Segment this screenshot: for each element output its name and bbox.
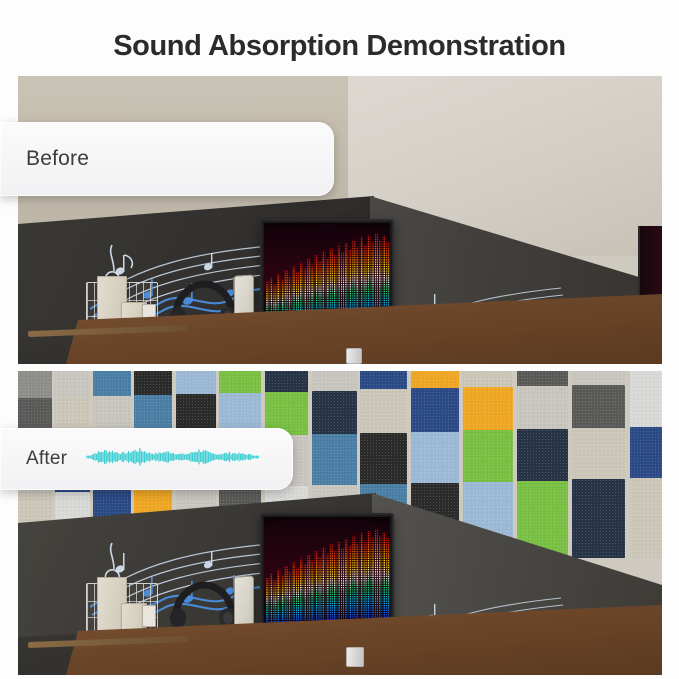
after-label-text: After — [26, 448, 67, 470]
scene-divider — [18, 364, 662, 371]
quiet-waveform — [85, 442, 263, 477]
rainbow-equalizer-after — [264, 517, 390, 631]
loud-waveform — [107, 128, 319, 191]
notebook-small-after — [142, 605, 156, 627]
page-root: Sound Absorption Demonstration — [0, 0, 679, 679]
pc-tower-after — [346, 647, 364, 667]
acoustic-tile — [55, 371, 91, 399]
monitor-screen-after — [264, 517, 390, 631]
curved-monitor-after — [260, 513, 394, 635]
acoustic-tile — [630, 478, 662, 558]
page-title: Sound Absorption Demonstration — [0, 30, 679, 63]
before-scene — [18, 76, 662, 364]
before-label-text: Before — [26, 147, 89, 171]
after-label-card[interactable]: After — [0, 428, 293, 490]
loud-waveform-svg — [107, 128, 319, 186]
acoustic-tile — [18, 371, 52, 399]
headphones-after — [168, 581, 238, 629]
after-scene — [18, 371, 662, 675]
pc-tower — [346, 348, 362, 364]
before-label-card[interactable]: Before — [0, 122, 334, 196]
acoustic-tile — [572, 479, 625, 558]
quiet-waveform-svg — [85, 442, 263, 472]
